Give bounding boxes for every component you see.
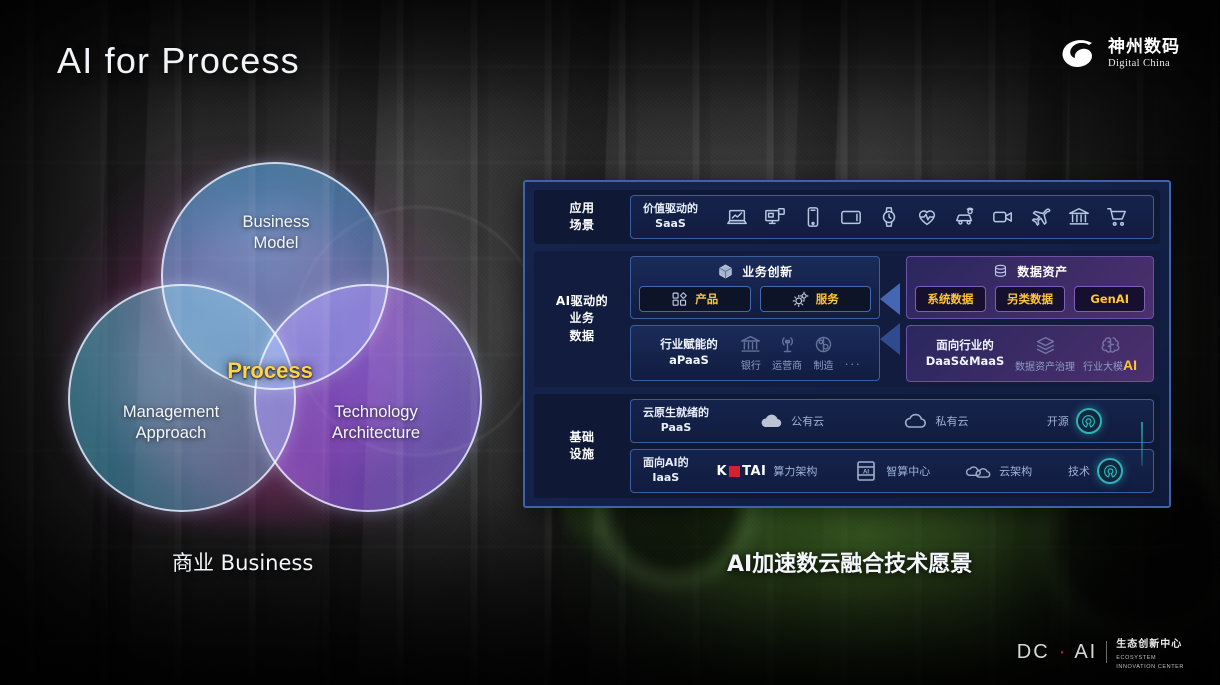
infra-row-paas[interactable]: 云原生就绪的 PaaS 公有云 私有云 开源 xyxy=(630,399,1154,443)
industry-bank-label: 银行 xyxy=(741,357,761,372)
brand-name-cn: 神州数码 xyxy=(1108,39,1180,56)
industry-large-model[interactable]: 行业大模AI xyxy=(1083,334,1137,373)
band-label-line2: 场景 xyxy=(569,217,594,234)
technology-architecture-panel: 应用 场景 价值驱动的 SaaS xyxy=(523,180,1171,508)
business-innovation-header: 业务创新 xyxy=(639,263,871,280)
footer-name-cn: 生态创新中心 xyxy=(1116,639,1182,650)
industry-carrier[interactable]: 运营商 xyxy=(772,334,802,372)
kuntai-logo-icon: KTAI xyxy=(717,464,767,479)
business-innovation-column: 业务创新 产品 服务 xyxy=(630,256,880,382)
tag-line1: 云原生就绪的 xyxy=(643,406,709,421)
bank-icon xyxy=(740,334,761,355)
chip-product[interactable]: 产品 xyxy=(639,286,751,312)
band-infrastructure: 基础 设施 云原生就绪的 PaaS 公有云 xyxy=(534,394,1160,498)
chip-product-label: 产品 xyxy=(695,291,718,307)
application-scenarios-box[interactable]: 价值驱动的 SaaS xyxy=(630,195,1154,239)
venn-diagram: Business Model Management Approach Techn… xyxy=(68,162,458,514)
apaas-industry-box[interactable]: 行业赋能的 aPaaS 银行 运营商 xyxy=(630,325,880,381)
footer-ai: AI xyxy=(1074,641,1097,664)
tag-cloud-native-paas: 云原生就绪的 PaaS xyxy=(643,406,709,436)
tag-value-driven-saas: 价值驱动的 SaaS xyxy=(643,202,698,232)
video-camera-icon xyxy=(992,206,1014,228)
apaas-industry-row: 行业赋能的 aPaaS 银行 运营商 xyxy=(639,332,871,374)
daas-title-line2: DaaS&MaaS xyxy=(919,354,1011,370)
public-cloud[interactable]: 公有云 xyxy=(758,410,824,432)
apaas-industry-items: 银行 运营商 制造 ... xyxy=(735,334,867,372)
technology-label: 技术 xyxy=(1068,463,1090,479)
digital-china-swirl-icon xyxy=(1059,36,1099,72)
band-label-infrastructure: 基础 设施 xyxy=(534,394,630,498)
tag-line2: IaaS xyxy=(643,471,689,486)
industry-more-ellipsis: ... xyxy=(845,353,862,372)
ai-band-content: 业务创新 产品 服务 xyxy=(630,251,1160,387)
daas-maas-box[interactable]: 面向行业的 DaaS&MaaS 数据资产治理 行业大模AI xyxy=(906,325,1154,382)
tablet-icon xyxy=(840,206,862,228)
open-source-glyph-icon xyxy=(1081,414,1096,429)
airplane-icon xyxy=(1030,206,1052,228)
daas-maas-title: 面向行业的 DaaS&MaaS xyxy=(919,338,1011,369)
industry-manufacturing[interactable]: 制造 xyxy=(813,334,834,372)
infra-row-iaas[interactable]: 面向AI的 IaaS KTAI 算力架构 AI 智算中心 xyxy=(630,449,1154,493)
caption-business: 商业 Business xyxy=(172,547,313,577)
footer-name-en-line2: INNOVATION CENTER xyxy=(1116,664,1184,671)
band-label-line2: 业务 xyxy=(556,310,608,327)
cloud-filled-icon xyxy=(758,410,784,432)
open-source-label: 开源 xyxy=(1047,413,1069,429)
public-cloud-label: 公有云 xyxy=(791,413,824,429)
footer-text: 生态创新中心 ECOSYSTEM INNOVATION CENTER xyxy=(1116,633,1184,671)
slide-root: AI for Process 神州数码 Digital China Busine… xyxy=(0,0,1220,685)
compute-architecture-label: 算力架构 xyxy=(773,463,817,479)
tag-ai-oriented-iaas: 面向AI的 IaaS xyxy=(643,456,689,486)
database-icon xyxy=(992,263,1009,280)
footer-dot: · xyxy=(1059,641,1066,664)
smartwatch-icon xyxy=(878,206,900,228)
infra-connector-line xyxy=(1141,422,1143,466)
gears-icon xyxy=(792,291,809,308)
apaas-title-line2: aPaaS xyxy=(643,353,735,369)
data-asset-chips: 系统数据 另类数据 GenAI xyxy=(915,286,1145,312)
industry-manufacturing-label: 制造 xyxy=(813,357,833,372)
open-source-ring-icon xyxy=(1097,458,1123,484)
kuntai-logo-block xyxy=(729,466,740,477)
brand-logo: 神州数码 Digital China xyxy=(1059,36,1180,72)
daas-maas-row: 面向行业的 DaaS&MaaS 数据资产治理 行业大模AI xyxy=(915,332,1145,375)
private-cloud[interactable]: 私有云 xyxy=(902,410,968,432)
antenna-tower-icon xyxy=(777,334,798,355)
daas-maas-items: 数据资产治理 行业大模AI xyxy=(1011,334,1141,373)
chip-genai[interactable]: GenAI xyxy=(1074,286,1145,312)
brain-circuit-icon xyxy=(1100,334,1121,355)
infrastructure-rows: 云原生就绪的 PaaS 公有云 私有云 开源 xyxy=(630,394,1160,498)
data-asset-column: 数据资产 系统数据 另类数据 GenAI 面向行业的 DaaS&MaaS xyxy=(906,256,1154,382)
heartbeat-icon xyxy=(916,206,938,228)
tag-line1: 价值驱动的 xyxy=(643,202,698,217)
band-label-line1: AI驱动的 xyxy=(556,293,608,310)
svg-text:AI: AI xyxy=(863,470,869,476)
band-label-line1: 应用 xyxy=(569,200,594,217)
industry-bank[interactable]: 银行 xyxy=(740,334,761,372)
layered-data-icon xyxy=(1035,335,1056,356)
compute-architecture[interactable]: KTAI 算力架构 xyxy=(717,463,818,479)
smartphone-icon xyxy=(802,206,824,228)
business-innovation-box[interactable]: 业务创新 产品 服务 xyxy=(630,256,880,319)
cloud-architecture-label: 云架构 xyxy=(999,463,1032,479)
page-title: AI for Process xyxy=(57,40,300,82)
band-label-line2: 设施 xyxy=(569,446,594,463)
data-asset-header: 数据资产 xyxy=(915,263,1145,280)
footer-name-en-line1: ECOSYSTEM xyxy=(1116,655,1184,662)
ai-compute-center[interactable]: AI 智算中心 xyxy=(853,460,930,482)
tag-line1: 面向AI的 xyxy=(643,456,689,471)
venn-circle-technology-architecture xyxy=(254,284,482,512)
data-governance[interactable]: 数据资产治理 xyxy=(1015,335,1075,373)
footer-divider xyxy=(1106,641,1107,663)
apaas-title-line1: 行业赋能的 xyxy=(643,337,735,353)
data-governance-label: 数据资产治理 xyxy=(1015,358,1075,373)
industry-large-model-label: 行业大模AI xyxy=(1083,357,1137,373)
desktop-monitor-icon xyxy=(764,206,786,228)
business-innovation-chips: 产品 服务 xyxy=(639,286,871,312)
iaas-items: KTAI 算力架构 AI 智算中心 云架构 xyxy=(699,458,1141,484)
band-application-scenarios: 应用 场景 价值驱动的 SaaS xyxy=(534,190,1160,244)
private-cloud-label: 私有云 xyxy=(935,413,968,429)
open-source-group[interactable]: 开源 xyxy=(1047,408,1102,434)
bank-icon xyxy=(1068,206,1090,228)
kuntai-logo-post: TAI xyxy=(742,464,766,479)
band-label-line1: 基础 xyxy=(569,429,594,446)
cloud-outline-icon xyxy=(902,410,928,432)
venn-center-label-process: Process xyxy=(185,358,355,384)
band-label-line3: 数据 xyxy=(556,328,608,345)
band-label-application-scenarios: 应用 场景 xyxy=(534,190,630,244)
paas-items: 公有云 私有云 开源 xyxy=(719,408,1141,434)
laptop-chart-icon xyxy=(726,206,748,228)
shopping-cart-icon xyxy=(1106,206,1128,228)
band-ai-driven-business-data: AI驱动的 业务 数据 业务创新 xyxy=(534,251,1160,387)
technology-group[interactable]: 技术 xyxy=(1068,458,1123,484)
ai-compute-center-label: 智算中心 xyxy=(886,463,930,479)
connected-car-icon xyxy=(954,206,976,228)
tag-line2: PaaS xyxy=(643,421,709,436)
open-source-glyph-icon xyxy=(1103,464,1118,479)
blocks-icon xyxy=(671,291,688,308)
ai-server-rack-icon: AI xyxy=(853,460,879,482)
cloud-architecture[interactable]: 云架构 xyxy=(966,460,1032,482)
scenario-icon-row xyxy=(726,206,1128,228)
brand-name-en: Digital China xyxy=(1108,59,1180,70)
daas-title-line1: 面向行业的 xyxy=(919,338,1011,354)
apaas-title: 行业赋能的 aPaaS xyxy=(643,337,735,368)
kuntai-logo-pre: K xyxy=(717,464,728,479)
footer-logo: DC · AI 生态创新中心 ECOSYSTEM INNOVATION CENT… xyxy=(1017,633,1184,671)
open-source-ring-icon xyxy=(1076,408,1102,434)
data-asset-title: 数据资产 xyxy=(1017,263,1067,280)
data-asset-box[interactable]: 数据资产 系统数据 另类数据 GenAI xyxy=(906,256,1154,319)
chip-service[interactable]: 服务 xyxy=(760,286,872,312)
cube-mesh-icon xyxy=(717,263,734,280)
tag-line2: SaaS xyxy=(643,217,698,232)
footer-dc: DC xyxy=(1017,641,1050,664)
chip-system-data[interactable]: 系统数据 xyxy=(915,286,986,312)
factory-gear-icon xyxy=(813,334,834,355)
multi-cloud-icon xyxy=(966,460,992,482)
caption-tech-vision: AI加速数云融合技术愿景 xyxy=(727,546,972,578)
business-innovation-title: 业务创新 xyxy=(742,263,792,280)
band-label-ai-driven-business-data: AI驱动的 业务 数据 xyxy=(534,251,630,387)
chip-alternative-data[interactable]: 另类数据 xyxy=(995,286,1066,312)
chip-service-label: 服务 xyxy=(816,291,839,307)
industry-carrier-label: 运营商 xyxy=(772,357,802,372)
